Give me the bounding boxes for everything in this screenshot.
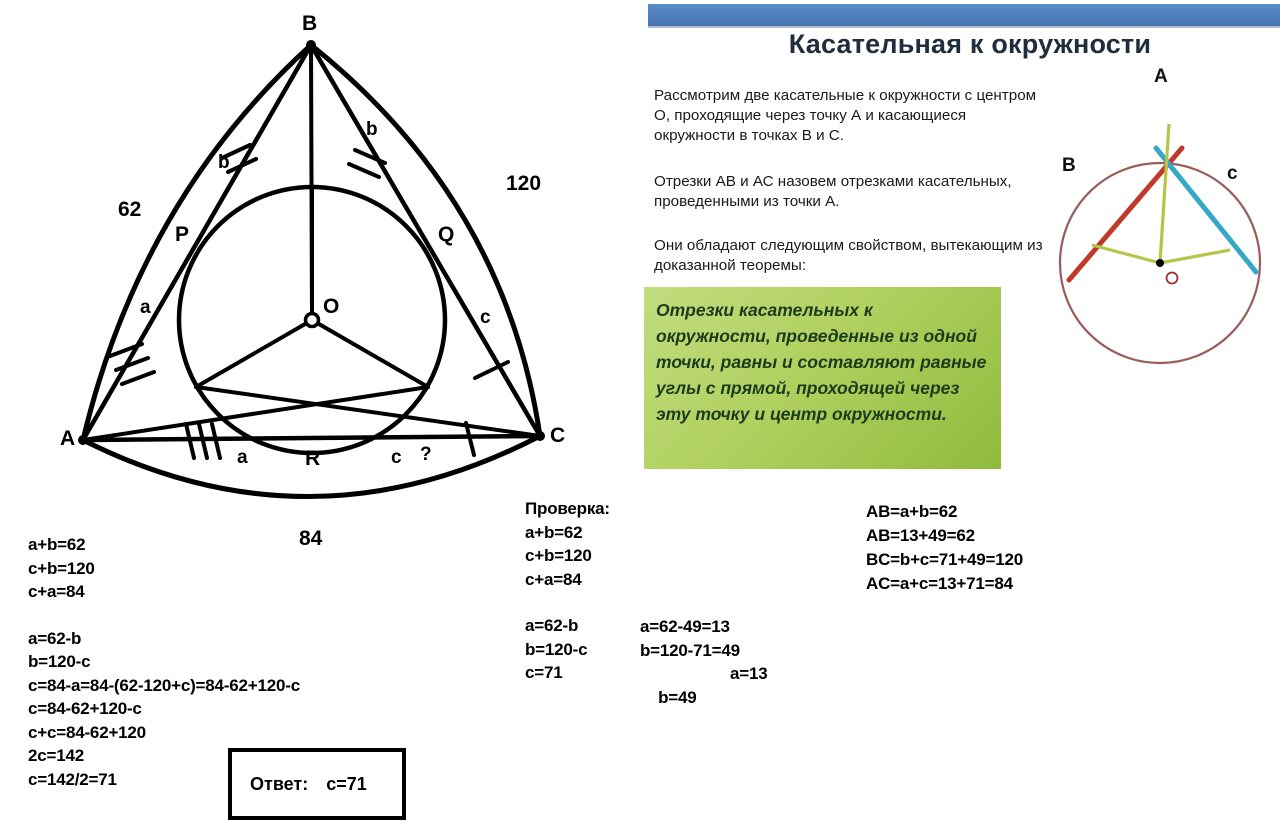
tick-b1-bc <box>355 150 385 163</box>
side-bc <box>311 45 540 436</box>
center-dot-o <box>306 314 319 327</box>
segment-label-bp: b <box>218 153 230 172</box>
mini-label-b: B <box>1062 155 1076 177</box>
check-extra-value: a=13 <box>730 662 768 686</box>
check-right-1: a=62-49=13 <box>640 615 740 639</box>
radius-o-p <box>196 320 312 387</box>
check-left-3: c=71 <box>525 661 610 685</box>
slide-topbar <box>648 4 1280 28</box>
verify-block: AB=a+b=62 AB=13+49=62 BC=b+c=71+49=120 A… <box>866 500 1023 596</box>
check-eq-3: c+a=84 <box>525 568 610 592</box>
slide-panel: Касательная к окружности Рассмотрим две … <box>644 0 1284 484</box>
tangency-label-p: P <box>175 224 189 245</box>
check-eq-1: a+b=62 <box>525 521 610 545</box>
derivation-step-5: c+c=84-62+120 <box>28 721 300 745</box>
verify-line-4: AC=a+c=13+71=84 <box>866 572 1023 596</box>
side-length-ac: 84 <box>299 528 322 549</box>
derivation-step-1: a=62-b <box>28 627 300 651</box>
mini-center-dot <box>1156 259 1164 267</box>
check-left-1: a=62-b <box>525 614 610 638</box>
slide-paragraph-2: Отрезки АВ и АС назовем отрезками касате… <box>654 172 1044 212</box>
check-right-3: b=49 <box>658 688 696 707</box>
vertex-label-a: A <box>60 428 75 449</box>
check-left-2: b=120-c <box>525 638 610 662</box>
center-label-o: O <box>323 296 339 317</box>
check-spacer <box>525 591 610 614</box>
tangency-label-r: R <box>305 448 320 469</box>
tick-a3-ab <box>122 372 154 384</box>
side-ab <box>83 45 311 440</box>
triangle-incircle-figure: B A C O P Q R b b a c a c ? 62 120 84 <box>0 0 640 580</box>
verify-line-3: BC=b+c=71+49=120 <box>866 548 1023 572</box>
check-block: Проверка: a+b=62 c+b=120 c+a=84 a=62-b b… <box>525 497 610 685</box>
verify-line-2: AB=13+49=62 <box>866 524 1023 548</box>
mini-line-ao <box>1160 124 1169 263</box>
mini-radius-oc <box>1160 250 1230 263</box>
derivation-eq-2: c+b=120 <box>28 557 300 581</box>
derivation-eq-3: c+a=84 <box>28 580 300 604</box>
mini-radius-ob <box>1092 245 1160 263</box>
vertex-dot-b <box>306 40 316 50</box>
tangency-label-q: Q <box>438 224 454 245</box>
triangle-incircle-svg <box>0 0 640 580</box>
segment-label-cr: c <box>391 448 402 467</box>
check-eq-2: c+b=120 <box>525 544 610 568</box>
theorem-box: Отрезки касательных к окружности, провед… <box>644 287 1001 469</box>
tick-b2-bc <box>349 164 379 177</box>
verify-line-1: AB=a+b=62 <box>866 500 1023 524</box>
mini-label-a: A <box>1154 66 1168 88</box>
side-length-ab: 62 <box>118 199 141 220</box>
derivation-eq-1: a+b=62 <box>28 533 300 557</box>
derivation-step-2: b=120-c <box>28 650 300 674</box>
segment-label-ar: a <box>237 448 248 467</box>
vertex-label-c: C <box>550 425 565 446</box>
tick-a2-ab <box>116 358 148 370</box>
answer-value: c=71 <box>308 774 367 795</box>
derivation-step-4: c=84-62+120-c <box>28 697 300 721</box>
vertex-dot-a <box>78 435 88 445</box>
check-values-column: a=62-49=13 b=120-71=49 b=49 a=13 <box>640 615 740 756</box>
mini-center-o-glyph <box>1167 273 1178 284</box>
side-length-bc: 120 <box>506 173 541 194</box>
answer-label: Ответ: <box>232 774 308 795</box>
radius-o-q <box>312 320 428 387</box>
unknown-question-mark: ? <box>420 445 432 464</box>
vertex-dot-c <box>535 431 545 441</box>
segment-label-cq: c <box>480 308 491 327</box>
check-title: Проверка: <box>525 497 610 521</box>
mini-tangent-diagram: A B c <box>1034 50 1284 390</box>
check-right-2: b=120-71=49 <box>640 639 740 663</box>
segment-label-ap: a <box>140 298 151 317</box>
slide-paragraph-1: Рассмотрим две касательные к окружности … <box>654 86 1044 146</box>
bisector-b-o <box>311 45 312 320</box>
mini-tangent-svg <box>1034 50 1284 390</box>
derivation-spacer <box>28 604 300 627</box>
segment-label-bq: b <box>366 120 378 139</box>
slide-paragraph-3: Они обладают следующим свойством, вытека… <box>654 236 1044 276</box>
vertex-label-b: B <box>302 13 317 34</box>
answer-box: Ответ: c=71 <box>228 748 406 820</box>
derivation-step-3: c=84-a=84-(62-120+c)=84-62+120-c <box>28 674 300 698</box>
mini-label-c: c <box>1227 163 1238 185</box>
